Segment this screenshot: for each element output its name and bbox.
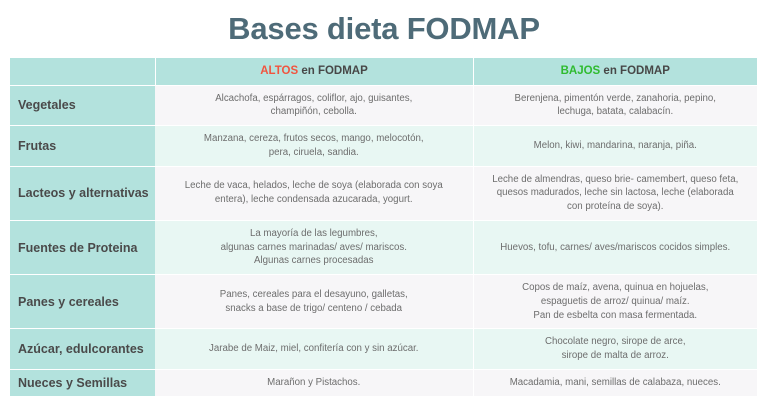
table-row: Lacteos y alternativas Leche de vaca, he… <box>10 166 757 220</box>
cell-line: entera), leche condensada azucarada, yog… <box>164 193 464 207</box>
low-fodmap-cell: Leche de almendras, queso brie- camember… <box>473 166 757 220</box>
low-fodmap-cell: Macadamia, mani, semillas de calabaza, n… <box>473 369 757 395</box>
cell-line: champiñón, cebolla. <box>164 105 464 119</box>
cell-line: Chocolate negro, sirope de arce, <box>483 335 749 349</box>
high-fodmap-cell: Jarabe de Maiz, miel, confitería con y s… <box>155 329 473 370</box>
cell-line: Melon, kiwi, mandarina, naranja, piña. <box>483 139 749 153</box>
header-high-tag: ALTOS <box>260 65 298 77</box>
cell-line: pera, ciruela, sandia. <box>164 146 464 160</box>
page-title: Bases dieta FODMAP <box>0 0 768 45</box>
cell-line: algunas carnes marinadas/ aves/ mariscos… <box>164 241 464 255</box>
cell-line: Marañon y Pistachos. <box>164 376 464 390</box>
cell-line: Leche de vaca, helados, leche de soya (e… <box>164 179 464 193</box>
cell-line: Berenjena, pimentón verde, zanahoria, pe… <box>483 92 749 106</box>
category-label: Lacteos y alternativas <box>10 166 155 220</box>
table-row: Azúcar, edulcorantes Jarabe de Maiz, mie… <box>10 329 757 370</box>
category-label: Nueces y Semillas <box>10 369 155 395</box>
header-high-fodmap: ALTOS en FODMAP <box>155 58 473 85</box>
low-fodmap-cell: Melon, kiwi, mandarina, naranja, piña. <box>473 126 757 167</box>
header-low-fodmap: BAJOS en FODMAP <box>473 58 757 85</box>
cell-line: snacks a base de trigo/ centeno / cebada <box>164 302 464 316</box>
category-label: Azúcar, edulcorantes <box>10 329 155 370</box>
table-row: Frutas Manzana, cereza, frutos secos, ma… <box>10 126 757 167</box>
table-row: Vegetales Alcachofa, espárragos, coliflo… <box>10 85 757 126</box>
cell-line: Algunas carnes procesadas <box>164 254 464 268</box>
header-category-blank <box>10 58 155 85</box>
cell-line: Panes, cereales para el desayuno, gallet… <box>164 288 464 302</box>
low-fodmap-cell: Huevos, tofu, carnes/ aves/mariscos coci… <box>473 220 757 274</box>
cell-line: Manzana, cereza, frutos secos, mango, me… <box>164 132 464 146</box>
category-label: Frutas <box>10 126 155 167</box>
category-label: Vegetales <box>10 85 155 126</box>
high-fodmap-cell: Marañon y Pistachos. <box>155 369 473 395</box>
header-row: ALTOS en FODMAP BAJOS en FODMAP <box>10 58 757 85</box>
cell-line: Copos de maíz, avena, quinua en hojuelas… <box>483 281 749 295</box>
cell-line: La mayoría de las legumbres, <box>164 227 464 241</box>
header-high-rest: en FODMAP <box>298 65 368 77</box>
high-fodmap-cell: Alcachofa, espárragos, coliflor, ajo, gu… <box>155 85 473 126</box>
high-fodmap-cell: Panes, cereales para el desayuno, gallet… <box>155 275 473 329</box>
fodmap-table: ALTOS en FODMAP BAJOS en FODMAP Vegetale… <box>10 58 757 396</box>
cell-line: quesos madurados, leche sin lactosa, lec… <box>483 186 749 200</box>
low-fodmap-cell: Copos de maíz, avena, quinua en hojuelas… <box>473 275 757 329</box>
high-fodmap-cell: Leche de vaca, helados, leche de soya (e… <box>155 166 473 220</box>
category-label: Panes y cereales <box>10 275 155 329</box>
low-fodmap-cell: Berenjena, pimentón verde, zanahoria, pe… <box>473 85 757 126</box>
header-low-tag: BAJOS <box>561 65 601 77</box>
cell-line: Macadamia, mani, semillas de calabaza, n… <box>483 376 749 390</box>
category-label: Fuentes de Proteina <box>10 220 155 274</box>
low-fodmap-cell: Chocolate negro, sirope de arce, sirope … <box>473 329 757 370</box>
table-body: Vegetales Alcachofa, espárragos, coliflo… <box>10 85 757 396</box>
cell-line: Leche de almendras, queso brie- camember… <box>483 173 749 187</box>
cell-line: con proteína de soya). <box>483 200 749 214</box>
cell-line: espaguetis de arroz/ quinua/ maíz. <box>483 295 749 309</box>
table-row: Fuentes de Proteina La mayoría de las le… <box>10 220 757 274</box>
header-low-rest: en FODMAP <box>600 65 670 77</box>
high-fodmap-cell: La mayoría de las legumbres, algunas car… <box>155 220 473 274</box>
table-row: Panes y cereales Panes, cereales para el… <box>10 275 757 329</box>
cell-line: Huevos, tofu, carnes/ aves/mariscos coci… <box>483 241 749 255</box>
cell-line: sirope de malta de arroz. <box>483 349 749 363</box>
cell-line: Jarabe de Maiz, miel, confitería con y s… <box>164 342 464 356</box>
table-row: Nueces y Semillas Marañon y Pistachos. M… <box>10 369 757 395</box>
cell-line: lechuga, batata, calabacín. <box>483 105 749 119</box>
cell-line: Alcachofa, espárragos, coliflor, ajo, gu… <box>164 92 464 106</box>
cell-line: Pan de esbelta con masa fermentada. <box>483 309 749 323</box>
high-fodmap-cell: Manzana, cereza, frutos secos, mango, me… <box>155 126 473 167</box>
table-header: ALTOS en FODMAP BAJOS en FODMAP <box>10 58 757 85</box>
fodmap-infographic: Bases dieta FODMAP ALTOS en FODMAP BAJOS… <box>0 0 768 401</box>
